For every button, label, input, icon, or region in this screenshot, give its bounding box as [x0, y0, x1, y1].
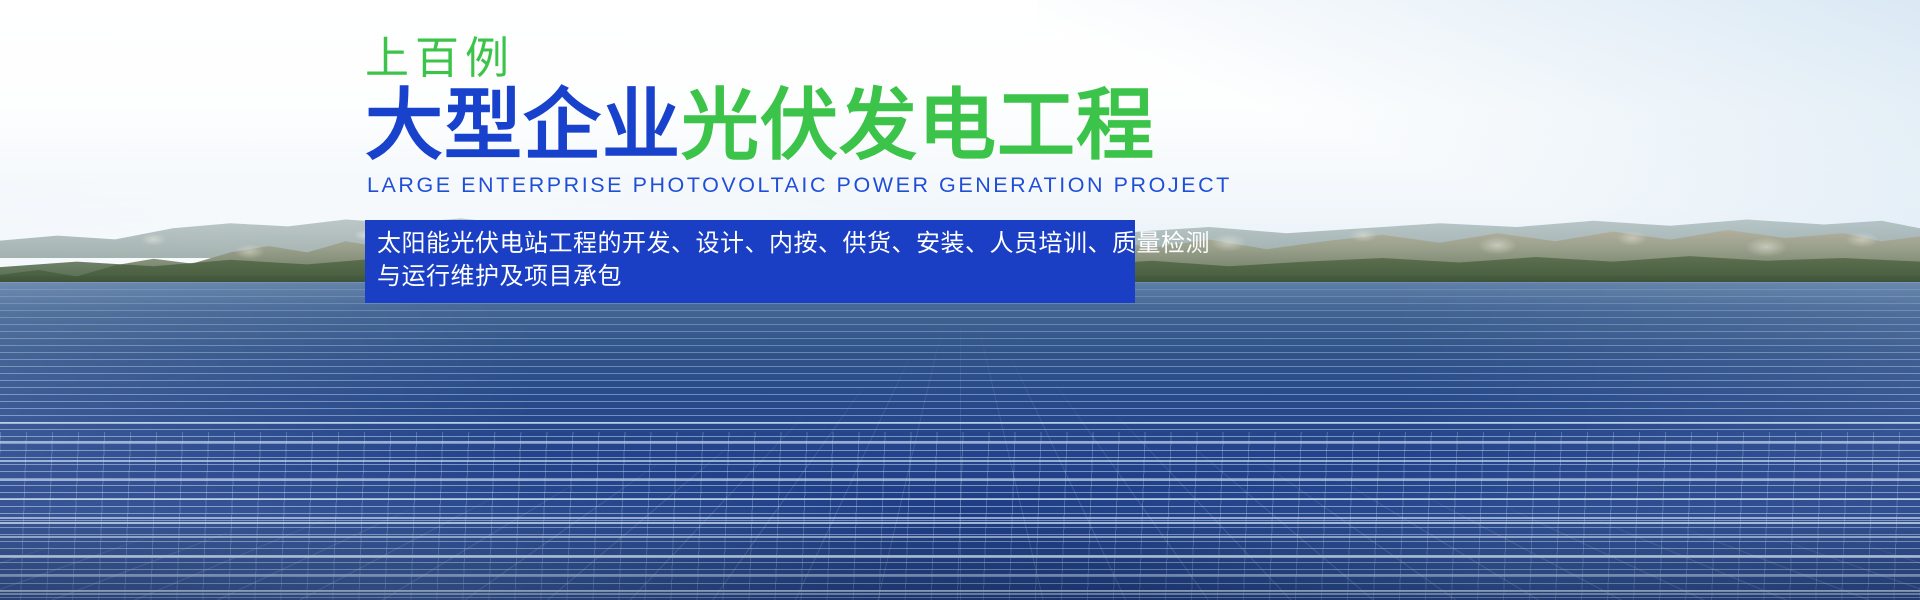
hero-banner: 上百例 大型企业光伏发电工程 LARGE ENTERPRISE PHOTOVOL…	[0, 0, 1920, 600]
description-box: 太阳能光伏电站工程的开发、设计、内按、供货、安装、人员培训、质量检测 与运行维护…	[365, 220, 1135, 302]
eyebrow-text: 上百例	[365, 34, 1565, 83]
subtitle-english: LARGE ENTERPRISE PHOTOVOLTAIC POWER GENE…	[367, 173, 1565, 198]
solar-panel-array	[0, 282, 1920, 600]
headline-green-segment: 光伏发电工程	[681, 81, 1155, 169]
page-title: 大型企业光伏发电工程	[365, 85, 1565, 166]
description-line-2: 与运行维护及项目承包	[377, 260, 1122, 293]
banner-copy: 上百例 大型企业光伏发电工程 LARGE ENTERPRISE PHOTOVOL…	[365, 34, 1565, 303]
description-line-1: 太阳能光伏电站工程的开发、设计、内按、供货、安装、人员培训、质量检测	[377, 227, 1122, 260]
headline-blue-segment: 大型企业	[365, 81, 681, 169]
panel-foreground-shade	[0, 510, 1920, 600]
